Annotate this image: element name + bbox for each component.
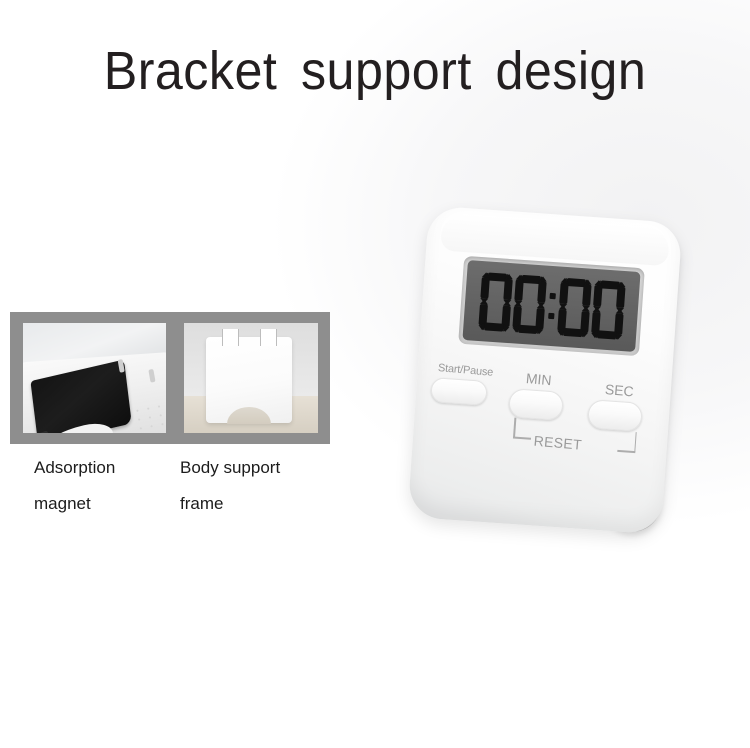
speaker-holes bbox=[131, 400, 166, 433]
caption-adsorption-magnet: Adsorption magnet bbox=[34, 450, 115, 522]
lcd-bezel bbox=[458, 256, 645, 356]
segment-b bbox=[537, 281, 546, 303]
lcd-digit-3 bbox=[555, 276, 592, 338]
segment-d bbox=[484, 322, 504, 331]
start-pause-button[interactable] bbox=[430, 377, 488, 406]
lcd-display bbox=[462, 260, 640, 352]
segment-d bbox=[562, 328, 582, 337]
magnet-pad bbox=[30, 360, 131, 433]
sec-button-label: SEC bbox=[604, 381, 634, 399]
caption-left-line2: magnet bbox=[34, 486, 115, 522]
segment-f bbox=[514, 279, 523, 301]
adsorption-magnet-photo bbox=[23, 323, 166, 433]
segment-f bbox=[559, 283, 568, 305]
reset-bracket-line-right bbox=[634, 432, 637, 452]
reset-bracket-line-left bbox=[513, 418, 516, 438]
bracket-clip-left bbox=[118, 359, 125, 373]
body-support-frame-photo bbox=[184, 323, 318, 433]
frame-tab-left bbox=[222, 329, 239, 346]
lcd-digit-1 bbox=[477, 271, 514, 333]
magnet-photo-scene bbox=[23, 323, 166, 433]
caption-right-line1: Body support bbox=[180, 458, 280, 477]
lcd-digit-2 bbox=[511, 273, 548, 335]
segment-b bbox=[616, 287, 625, 309]
segment-f bbox=[593, 285, 602, 307]
caption-left-line1: Adsorption bbox=[34, 458, 115, 477]
bracket-clip-right bbox=[148, 369, 155, 383]
segment-d bbox=[518, 325, 538, 334]
feature-photo-frame bbox=[10, 312, 330, 444]
support-frame-shape bbox=[206, 337, 292, 423]
segment-b bbox=[503, 279, 512, 301]
page-title: Bracket support design bbox=[26, 40, 724, 102]
bracket-photo-scene bbox=[184, 323, 318, 433]
frame-tab-right bbox=[260, 329, 277, 346]
lcd-digit-4 bbox=[589, 279, 626, 341]
segment-b bbox=[582, 284, 591, 306]
min-button-label: MIN bbox=[525, 370, 552, 388]
reset-bracket-line-right-h bbox=[617, 450, 635, 453]
product-image-canvas: Bracket support design bbox=[0, 0, 750, 748]
segment-f bbox=[480, 277, 489, 299]
caption-right-line2: frame bbox=[180, 486, 280, 522]
timer-back-surface bbox=[23, 351, 166, 433]
reset-bracket-line-left-h bbox=[513, 437, 531, 440]
kitchen-timer-product: Start/Pause MIN SEC RESET bbox=[416, 214, 726, 544]
colon-dot-top bbox=[549, 293, 555, 299]
reset-label: RESET bbox=[533, 433, 582, 453]
segment-d bbox=[596, 330, 616, 339]
caption-body-support-frame: Body support frame bbox=[180, 450, 280, 522]
colon-dot-bottom bbox=[548, 313, 554, 319]
